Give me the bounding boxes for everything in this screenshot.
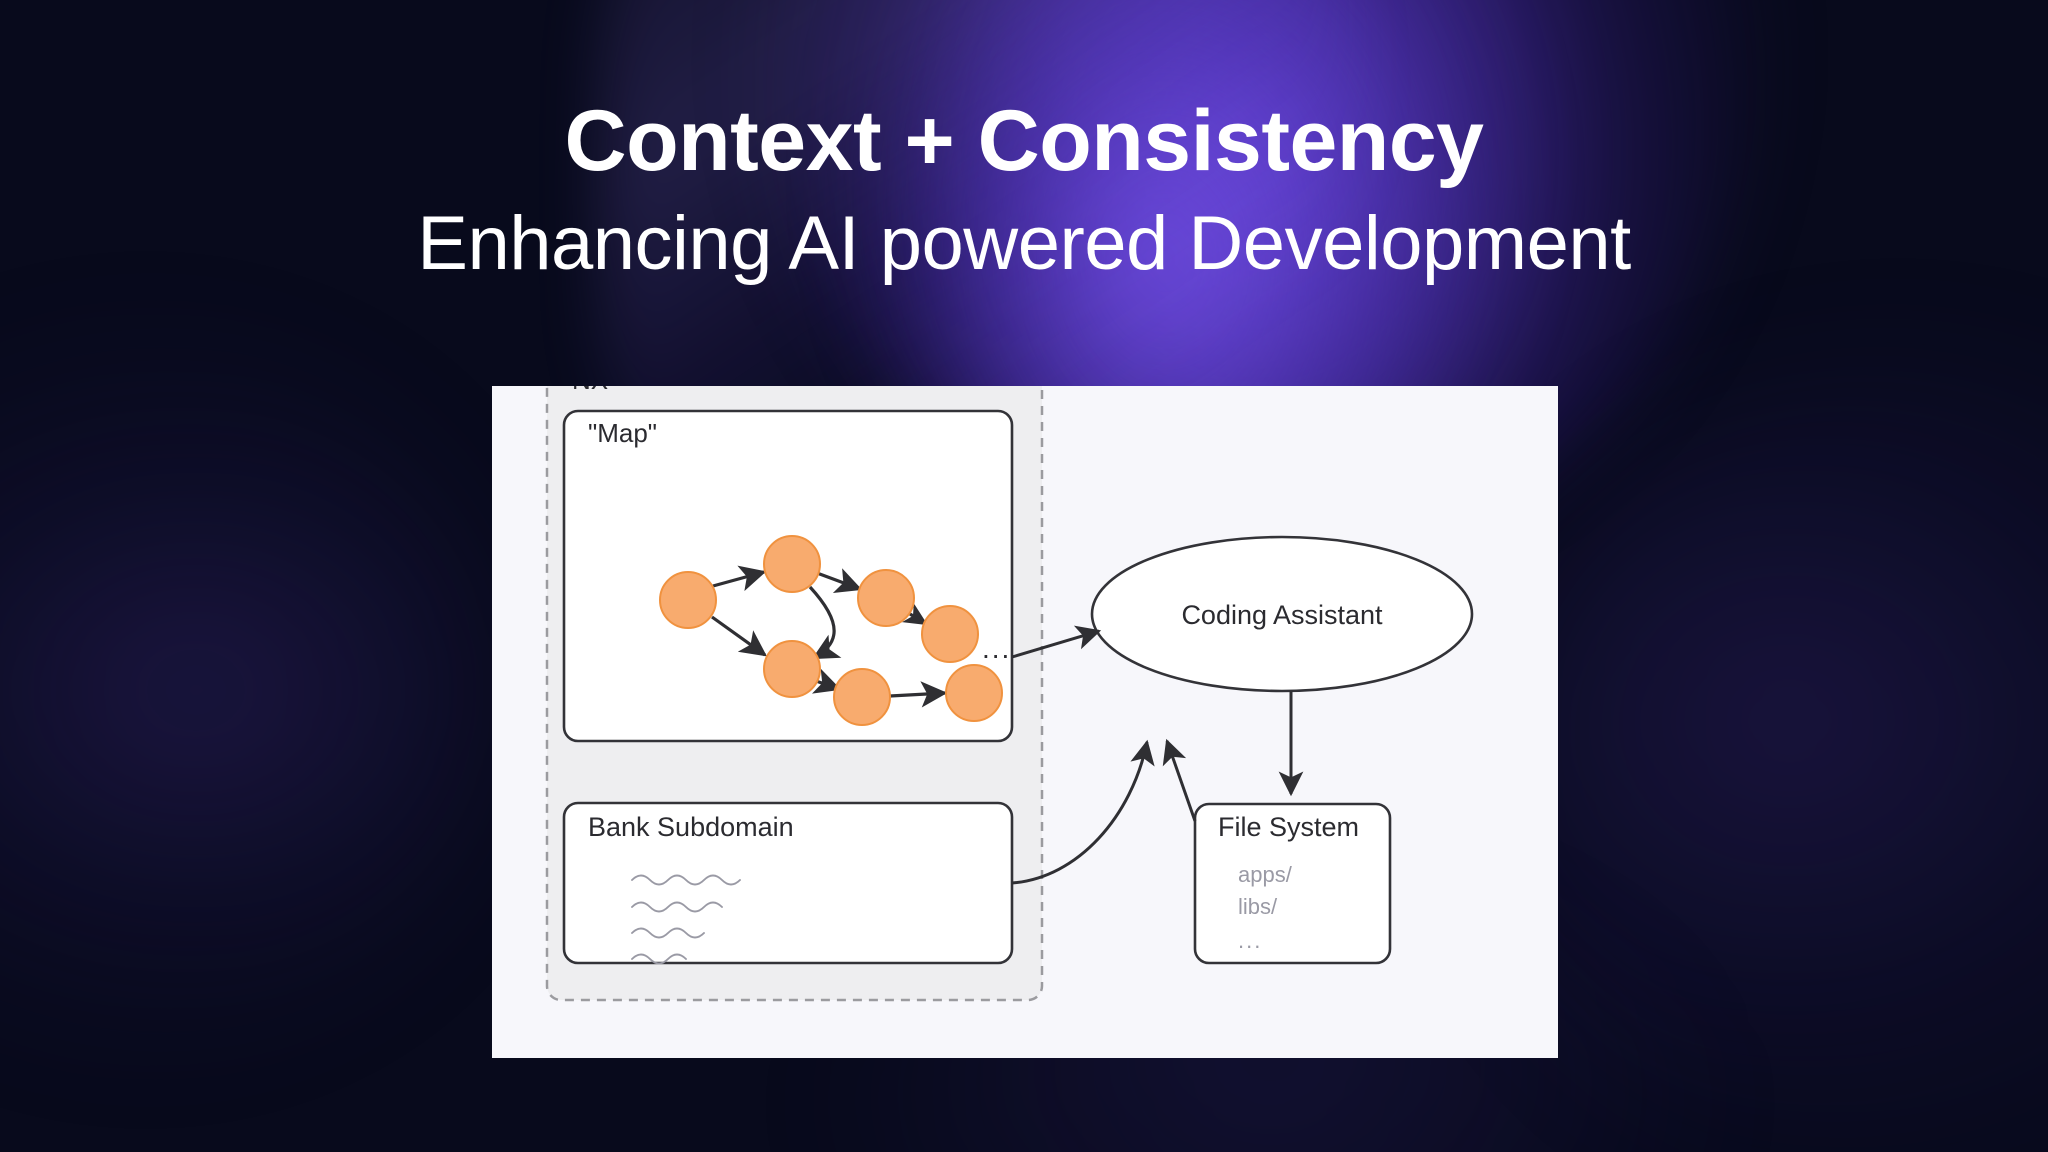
map-box: "Map": [564, 411, 1012, 741]
bank-subdomain-box: Bank Subdomain: [564, 803, 1012, 964]
page-title: Context + Consistency: [0, 98, 2048, 184]
graph-node: [922, 606, 978, 662]
nx-container-label: NX: [572, 386, 608, 395]
map-box-label: "Map": [588, 418, 657, 448]
background-glow-left: [0, 330, 500, 1050]
file-system-label: File System: [1218, 812, 1359, 842]
bank-subdomain-label: Bank Subdomain: [588, 812, 794, 842]
graph-node: [764, 641, 820, 697]
graph-node: [660, 572, 716, 628]
page-subtitle: Enhancing AI powered Development: [0, 206, 2048, 282]
coding-assistant-label: Coding Assistant: [1181, 600, 1383, 630]
diagram-panel: NX "Map": [492, 386, 1558, 1058]
file-system-entry-apps: apps/: [1238, 862, 1293, 887]
coding-assistant-node: Coding Assistant: [1092, 537, 1472, 691]
graph-node: [946, 665, 1002, 721]
graph-node: [764, 536, 820, 592]
slide-canvas: Context + Consistency Enhancing AI power…: [0, 0, 2048, 1152]
background-glow-right: [1480, 360, 2048, 1152]
file-system-entry-ellipsis: ...: [1238, 928, 1262, 953]
connector-filesystem-to-assistant: [1167, 741, 1195, 821]
graph-node: [858, 570, 914, 626]
graph-node: [834, 669, 890, 725]
map-graph-ellipsis: ...: [982, 633, 1011, 664]
file-system-box: File System apps/ libs/ ...: [1195, 804, 1390, 963]
file-system-entry-libs: libs/: [1238, 894, 1278, 919]
architecture-diagram: NX "Map": [492, 386, 1558, 1058]
